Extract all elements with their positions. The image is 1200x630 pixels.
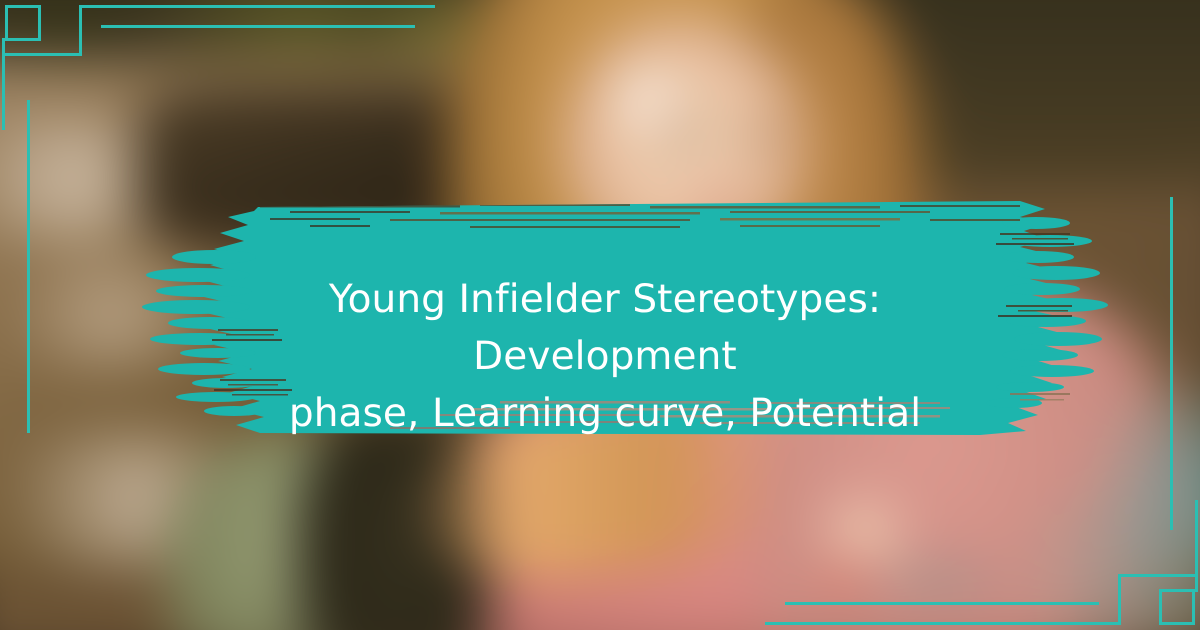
- corner-line-horizontal-joint: [2, 53, 82, 56]
- title-banner: Young Infielder Stereotypes: Development…: [140, 193, 1070, 439]
- corner-line-horizontal-outer: [79, 5, 435, 8]
- background-subject-eye: [658, 116, 709, 152]
- corner-bracket-bottom-right: [760, 490, 1200, 630]
- corner-line-horizontal-outer: [765, 622, 1121, 625]
- corner-line-vertical-joint: [1118, 574, 1121, 625]
- corner-line-vertical-outer: [2, 38, 5, 130]
- corner-square-icon: [1159, 589, 1195, 625]
- corner-line-vertical-outer: [1195, 500, 1198, 592]
- corner-line-horizontal-inner: [101, 25, 415, 28]
- corner-line-horizontal-joint: [1118, 574, 1198, 577]
- corner-line-vertical-inner: [27, 100, 30, 433]
- corner-line-vertical-inner: [1170, 197, 1173, 530]
- corner-line-horizontal-inner: [785, 602, 1099, 605]
- corner-line-vertical-joint: [79, 5, 82, 56]
- corner-bracket-top-left: [0, 0, 440, 140]
- page-title: Young Infielder Stereotypes: Development…: [140, 271, 1070, 442]
- background-subject-eye: [734, 120, 785, 156]
- corner-square-icon: [5, 5, 41, 41]
- social-card: Young Infielder Stereotypes: Development…: [0, 0, 1200, 630]
